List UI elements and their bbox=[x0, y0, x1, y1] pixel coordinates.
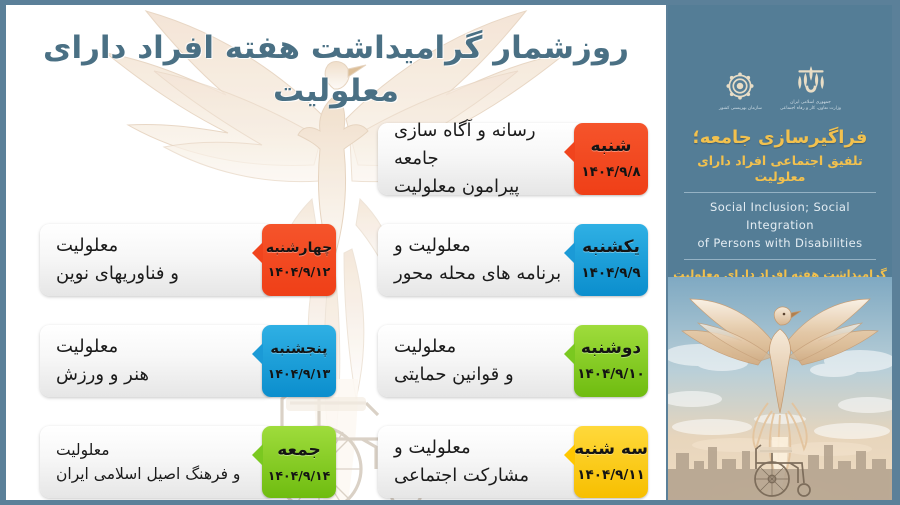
day-date: ۱۴۰۴/۹/۱۰ bbox=[577, 368, 645, 382]
logo-row: جمهوری اسلامی ایران وزارت تعاون، کار و ر… bbox=[668, 5, 892, 113]
iran-emblem-icon bbox=[790, 63, 832, 97]
logo-caption-government: جمهوری اسلامی ایران وزارت تعاون، کار و ر… bbox=[780, 100, 841, 113]
day-body: معلولیت و فناوریهای نوین bbox=[40, 224, 274, 296]
day-card-sunday[interactable]: یکشنبه ۱۴۰۴/۹/۹ معلولیت و برنامه های محل… bbox=[378, 224, 648, 296]
day-body: معلولیت و فرهنگ اصیل اسلامی ایران bbox=[40, 426, 274, 498]
day-card-tuesday[interactable]: سه شنبه ۱۴۰۴/۹/۱۱ معلولیت و مشارکت اجتما… bbox=[378, 426, 648, 498]
day-date: ۱۴۰۴/۹/۱۳ bbox=[268, 368, 331, 381]
day-card-monday[interactable]: دوشنبه ۱۴۰۴/۹/۱۰ معلولیت و قوانین حمایتی bbox=[378, 325, 648, 397]
campaign-poster: جمهوری اسلامی ایران وزارت تعاون، کار و ر… bbox=[668, 5, 892, 500]
logo-caption-behzisti: سازمان بهزیستی کشور bbox=[719, 106, 762, 113]
day-badge-friday: جمعه ۱۴۰۴/۹/۱۴ bbox=[262, 426, 336, 498]
day-text: رسانه و آگاه سازی جامعه پیرامون معلولیت bbox=[394, 117, 562, 201]
day-label: چهارشنبه bbox=[266, 241, 332, 255]
logo-block-behzisti: سازمان بهزیستی کشور bbox=[719, 69, 762, 113]
day-label: جمعه bbox=[277, 442, 321, 459]
day-body: معلولیت و قوانین حمایتی bbox=[378, 325, 586, 397]
day-badge-sunday: یکشنبه ۱۴۰۴/۹/۹ bbox=[574, 224, 648, 296]
day-text: معلولیت و برنامه های محله محور bbox=[394, 232, 562, 288]
day-text: معلولیت و فناوریهای نوین bbox=[56, 232, 250, 288]
day-label: پنجشنبه bbox=[270, 342, 327, 357]
day-body: رسانه و آگاه سازی جامعه پیرامون معلولیت bbox=[378, 123, 586, 195]
day-badge-saturday: شنبه ۱۴۰۴/۹/۸ bbox=[574, 123, 648, 195]
day-text: معلولیت و مشارکت اجتماعی bbox=[394, 434, 562, 490]
day-date: ۱۴۰۴/۹/۱۴ bbox=[268, 470, 331, 483]
phoenix-sunset-illustration bbox=[668, 277, 892, 500]
day-date: ۱۴۰۴/۹/۹ bbox=[581, 267, 640, 281]
poster-subhead: تلفیق اجتماعی افراد دارای معلولیت bbox=[668, 153, 892, 186]
poster-english-line2: of Persons with Disabilities bbox=[668, 235, 892, 253]
day-card-saturday[interactable]: شنبه ۱۴۰۴/۹/۸ رسانه و آگاه سازی جامعه پی… bbox=[378, 123, 648, 195]
day-date: ۱۴۰۴/۹/۸ bbox=[581, 166, 640, 180]
day-card-thursday[interactable]: پنجشنبه ۱۴۰۴/۹/۱۳ معلولیت هنر و ورزش bbox=[40, 325, 336, 397]
day-date: ۱۴۰۴/۹/۱۱ bbox=[577, 469, 645, 483]
day-body: معلولیت و مشارکت اجتماعی bbox=[378, 426, 586, 498]
day-text: معلولیت هنر و ورزش bbox=[56, 333, 250, 389]
page-title: روزشمار گرامیداشت هفته افراد دارای معلول… bbox=[6, 27, 666, 113]
infographic-canvas: روزشمار گرامیداشت هفته افراد دارای معلول… bbox=[0, 0, 900, 505]
day-badge-wednesday: چهارشنبه ۱۴۰۴/۹/۱۲ bbox=[262, 224, 336, 296]
day-badge-monday: دوشنبه ۱۴۰۴/۹/۱۰ bbox=[574, 325, 648, 397]
day-label: سه شنبه bbox=[574, 441, 648, 458]
poster-english-line1: Social Inclusion; Social Integration bbox=[668, 199, 892, 235]
day-text: معلولیت و قوانین حمایتی bbox=[394, 333, 562, 389]
day-body: معلولیت و برنامه های محله محور bbox=[378, 224, 586, 296]
day-card-friday[interactable]: جمعه ۱۴۰۴/۹/۱۴ معلولیت و فرهنگ اصیل اسلا… bbox=[40, 426, 336, 498]
logo-block-government: جمهوری اسلامی ایران وزارت تعاون، کار و ر… bbox=[780, 63, 841, 113]
day-badge-thursday: پنجشنبه ۱۴۰۴/۹/۱۳ bbox=[262, 325, 336, 397]
day-body: معلولیت هنر و ورزش bbox=[40, 325, 274, 397]
poster-artwork bbox=[668, 277, 892, 500]
main-panel: روزشمار گرامیداشت هفته افراد دارای معلول… bbox=[6, 5, 666, 500]
poster-headline: فراگیرسازی جامعه؛ bbox=[668, 127, 892, 150]
behzisti-logo-icon bbox=[720, 69, 760, 103]
day-date: ۱۴۰۴/۹/۱۲ bbox=[268, 266, 331, 279]
divider-top bbox=[684, 192, 876, 193]
divider-bottom bbox=[684, 259, 876, 260]
day-card-wednesday[interactable]: چهارشنبه ۱۴۰۴/۹/۱۲ معلولیت و فناوریهای ن… bbox=[40, 224, 336, 296]
day-text: معلولیت و فرهنگ اصیل اسلامی ایران bbox=[56, 438, 250, 486]
day-label: یکشنبه bbox=[582, 239, 640, 256]
day-label: شنبه bbox=[591, 138, 632, 155]
day-badge-tuesday: سه شنبه ۱۴۰۴/۹/۱۱ bbox=[574, 426, 648, 498]
day-label: دوشنبه bbox=[581, 340, 641, 357]
poster-top: جمهوری اسلامی ایران وزارت تعاون، کار و ر… bbox=[668, 5, 892, 277]
